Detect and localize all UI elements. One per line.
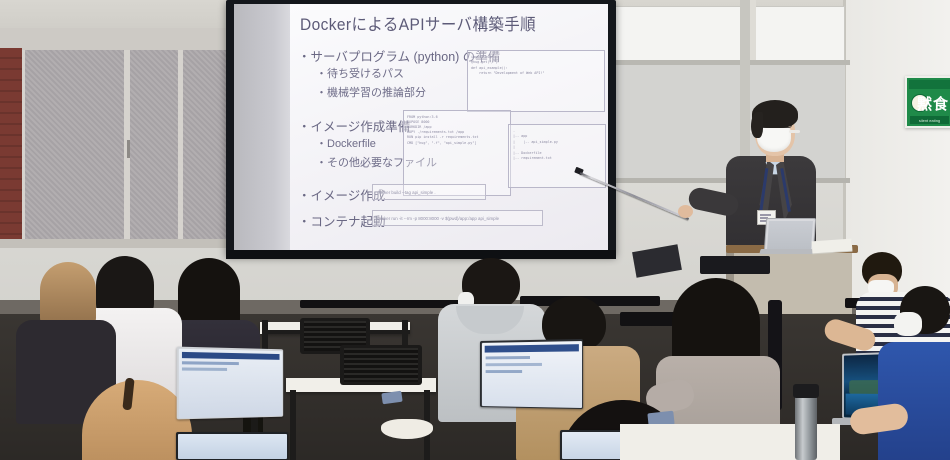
presenter-laptop[interactable]: [764, 218, 816, 252]
laptop-center[interactable]: [480, 339, 583, 409]
monitor-back-right: [700, 256, 770, 274]
student-blue-top: [878, 342, 950, 460]
window-mullion-3: [178, 48, 183, 242]
laptop-center-titlebar: [484, 344, 578, 352]
bullet-ml-inference: ・機械学習の推論部分: [316, 84, 426, 100]
screen-shadow-band: [234, 4, 290, 250]
right-wall-column: [845, 0, 950, 300]
presenter-hand: [678, 205, 693, 218]
whiteboard: [605, 6, 845, 66]
command-docker-build: docker build --tag api_simple .: [372, 184, 486, 200]
laptop-left-line-1: [181, 361, 238, 365]
window-header: [0, 28, 232, 50]
window-pane-1: [24, 50, 124, 240]
laptop-center-line-3: [485, 370, 521, 373]
laptop-center-line-2: [485, 362, 541, 365]
command-docker-run: docker run -it --rm -p 8000:8000 -v $(pw…: [372, 210, 543, 226]
desk-leg-3: [290, 390, 296, 460]
window-pane-3: [182, 50, 230, 240]
presenter-laptop-base: [759, 249, 818, 254]
classroom-scene: 黙食 silent eating DockerによるAPIサーバ構築手順 ・サー…: [0, 0, 950, 460]
silent-eating-poster: 黙食 silent eating: [905, 76, 950, 128]
code-block-python: import hug @hug.get("/") def api_example…: [467, 50, 605, 112]
laptop-bottom-left[interactable]: [176, 432, 288, 460]
laptop-left-screen: [178, 348, 282, 418]
badge-line-1: [760, 214, 771, 216]
slide-title: DockerによるAPIサーバ構築手順: [300, 12, 536, 35]
monitor-block: [620, 312, 680, 326]
laptop-bottom-left-screen: [178, 434, 287, 459]
screen-bottom-bar: [226, 250, 616, 259]
wall-pillar-secondary: [750, 0, 756, 60]
poster-caption: silent eating: [910, 116, 949, 124]
thermos-bottle: [795, 388, 817, 460]
chair-back-2[interactable]: [340, 345, 422, 385]
window-sill: [0, 239, 232, 248]
slide-content: DockerによるAPIサーバ構築手順 ・サーバプログラム (python) の…: [290, 4, 608, 250]
bag-on-floor: [381, 419, 433, 439]
brick-wall: [0, 48, 22, 243]
laptop-left-titlebar: [181, 351, 279, 359]
mask-strap-right: [789, 130, 800, 133]
bullet-image-prep: ・イメージ作成準備: [298, 116, 410, 135]
laptop-left-line-2: [181, 367, 226, 371]
poster-header-band: [909, 80, 950, 89]
presenter-hair-side: [751, 112, 763, 138]
window-handle[interactable]: [127, 140, 130, 158]
bullet-dockerfile: ・Dockerfile: [316, 135, 376, 151]
thermos-cap: [793, 384, 819, 398]
bullet-waiting-path: ・待ち受けるパス: [316, 65, 404, 81]
chair-slats-2: [344, 348, 418, 382]
laptop-left[interactable]: [177, 347, 284, 420]
poster-kanji-text: 黙食: [910, 92, 949, 114]
window-pane-2: [130, 50, 178, 240]
laptop-center-line-1: [485, 356, 529, 359]
presenter-laptop-screen: [767, 221, 813, 249]
student-mask-blue: [894, 312, 922, 336]
laptop-center-screen: [481, 341, 581, 408]
